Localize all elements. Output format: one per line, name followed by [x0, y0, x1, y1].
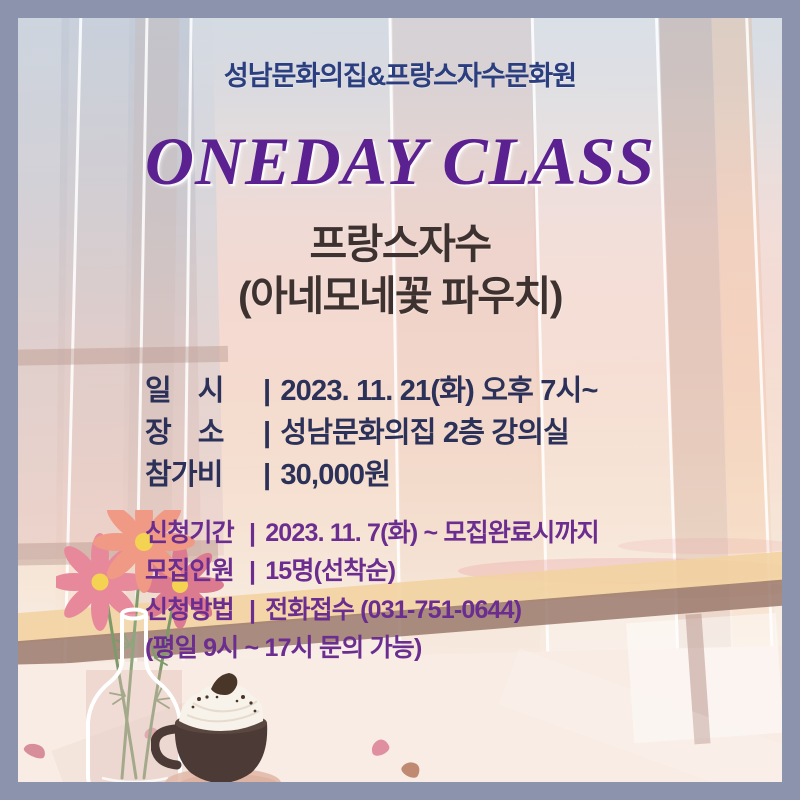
application-row-period: 신청기간 | 2023. 11. 7(화) ~ 모집완료시까지: [145, 514, 765, 552]
detail-separator-3: |: [263, 454, 270, 496]
page-title: ONEDAY CLASS: [18, 122, 782, 201]
detail-row-datetime: 일 시 | 2023. 11. 21(화) 오후 7시~: [145, 370, 765, 412]
subtitle-line-1: 프랑스자수: [18, 218, 782, 270]
poster-canvas: 성남문화의집&프랑스자수문화원 ONEDAY CLASS 프랑스자수 (아네모네…: [18, 18, 782, 782]
detail-label-fee: 참가비: [145, 454, 263, 496]
application-value-capacity: 15명(선착순): [265, 552, 395, 590]
application-row-capacity: 모집인원 | 15명(선착순): [145, 552, 765, 590]
application-row-method: 신청방법 | 전화접수 (031-751-0644): [145, 591, 765, 629]
class-details-block: 일 시 | 2023. 11. 21(화) 오후 7시~ 장 소 | 성남문화의…: [145, 370, 765, 496]
subtitle: 프랑스자수 (아네모네꽃 파우치): [18, 218, 782, 323]
detail-separator-1: |: [263, 370, 270, 412]
application-label-method: 신청방법: [145, 591, 249, 629]
detail-label-location: 장 소: [145, 412, 263, 454]
detail-label-datetime: 일 시: [145, 370, 263, 412]
detail-value-location: 성남문화의집 2층 강의실: [280, 412, 569, 454]
application-value-period: 2023. 11. 7(화) ~ 모집완료시까지: [265, 514, 599, 552]
application-separator-1: |: [249, 514, 255, 552]
application-separator-2: |: [249, 552, 255, 590]
application-value-method: 전화접수 (031-751-0644): [265, 591, 521, 629]
detail-value-datetime: 2023. 11. 21(화) 오후 7시~: [280, 370, 597, 412]
footnote: (평일 9시 ~ 17시 문의 가능): [145, 629, 765, 667]
application-label-capacity: 모집인원: [145, 552, 249, 590]
poster-text-layer: 성남문화의집&프랑스자수문화원 ONEDAY CLASS 프랑스자수 (아네모네…: [18, 18, 782, 782]
application-label-period: 신청기간: [145, 514, 249, 552]
organization-name: 성남문화의집&프랑스자수문화원: [18, 54, 782, 93]
detail-row-location: 장 소 | 성남문화의집 2층 강의실: [145, 412, 765, 454]
poster-root: 성남문화의집&프랑스자수문화원 ONEDAY CLASS 프랑스자수 (아네모네…: [0, 0, 800, 800]
application-block: 신청기간 | 2023. 11. 7(화) ~ 모집완료시까지 모집인원 | 1…: [145, 514, 765, 667]
detail-separator-2: |: [263, 412, 270, 454]
application-separator-3: |: [249, 591, 255, 629]
detail-value-fee: 30,000원: [280, 454, 390, 496]
detail-row-fee: 참가비 | 30,000원: [145, 454, 765, 496]
subtitle-line-2: (아네모네꽃 파우치): [18, 270, 782, 322]
